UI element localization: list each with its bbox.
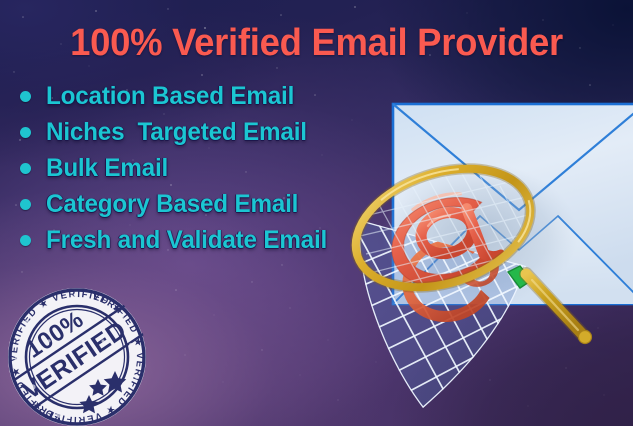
bullet-dot-icon xyxy=(20,91,31,102)
feature-label: Fresh and Validate Email xyxy=(46,226,327,255)
feature-list: Location Based Email Niches Targeted Ema… xyxy=(12,78,392,258)
verified-stamp: VERIFIED ★ VERIFIED ★ VERIFIED ★ VERIFIE… xyxy=(3,283,151,426)
list-item: Bulk Email xyxy=(12,150,392,186)
bullet-dot-icon xyxy=(20,235,31,246)
bullet-dot-icon xyxy=(20,199,31,210)
feature-label: Bulk Email xyxy=(46,154,168,183)
list-item: Fresh and Validate Email xyxy=(12,222,392,258)
feature-label: Location Based Email xyxy=(46,82,294,111)
list-item: Location Based Email xyxy=(12,78,392,114)
bullet-dot-icon xyxy=(20,163,31,174)
bullet-dot-icon xyxy=(20,127,31,138)
page-title: 100% Verified Email Provider xyxy=(13,22,621,65)
list-item: Category Based Email xyxy=(12,186,392,222)
email-provider-banner: 100% Verified Email Provider Location Ba… xyxy=(0,0,633,426)
list-item: Niches Targeted Email xyxy=(12,114,392,150)
feature-label: Category Based Email xyxy=(46,190,298,219)
feature-label: Niches Targeted Email xyxy=(46,118,307,147)
